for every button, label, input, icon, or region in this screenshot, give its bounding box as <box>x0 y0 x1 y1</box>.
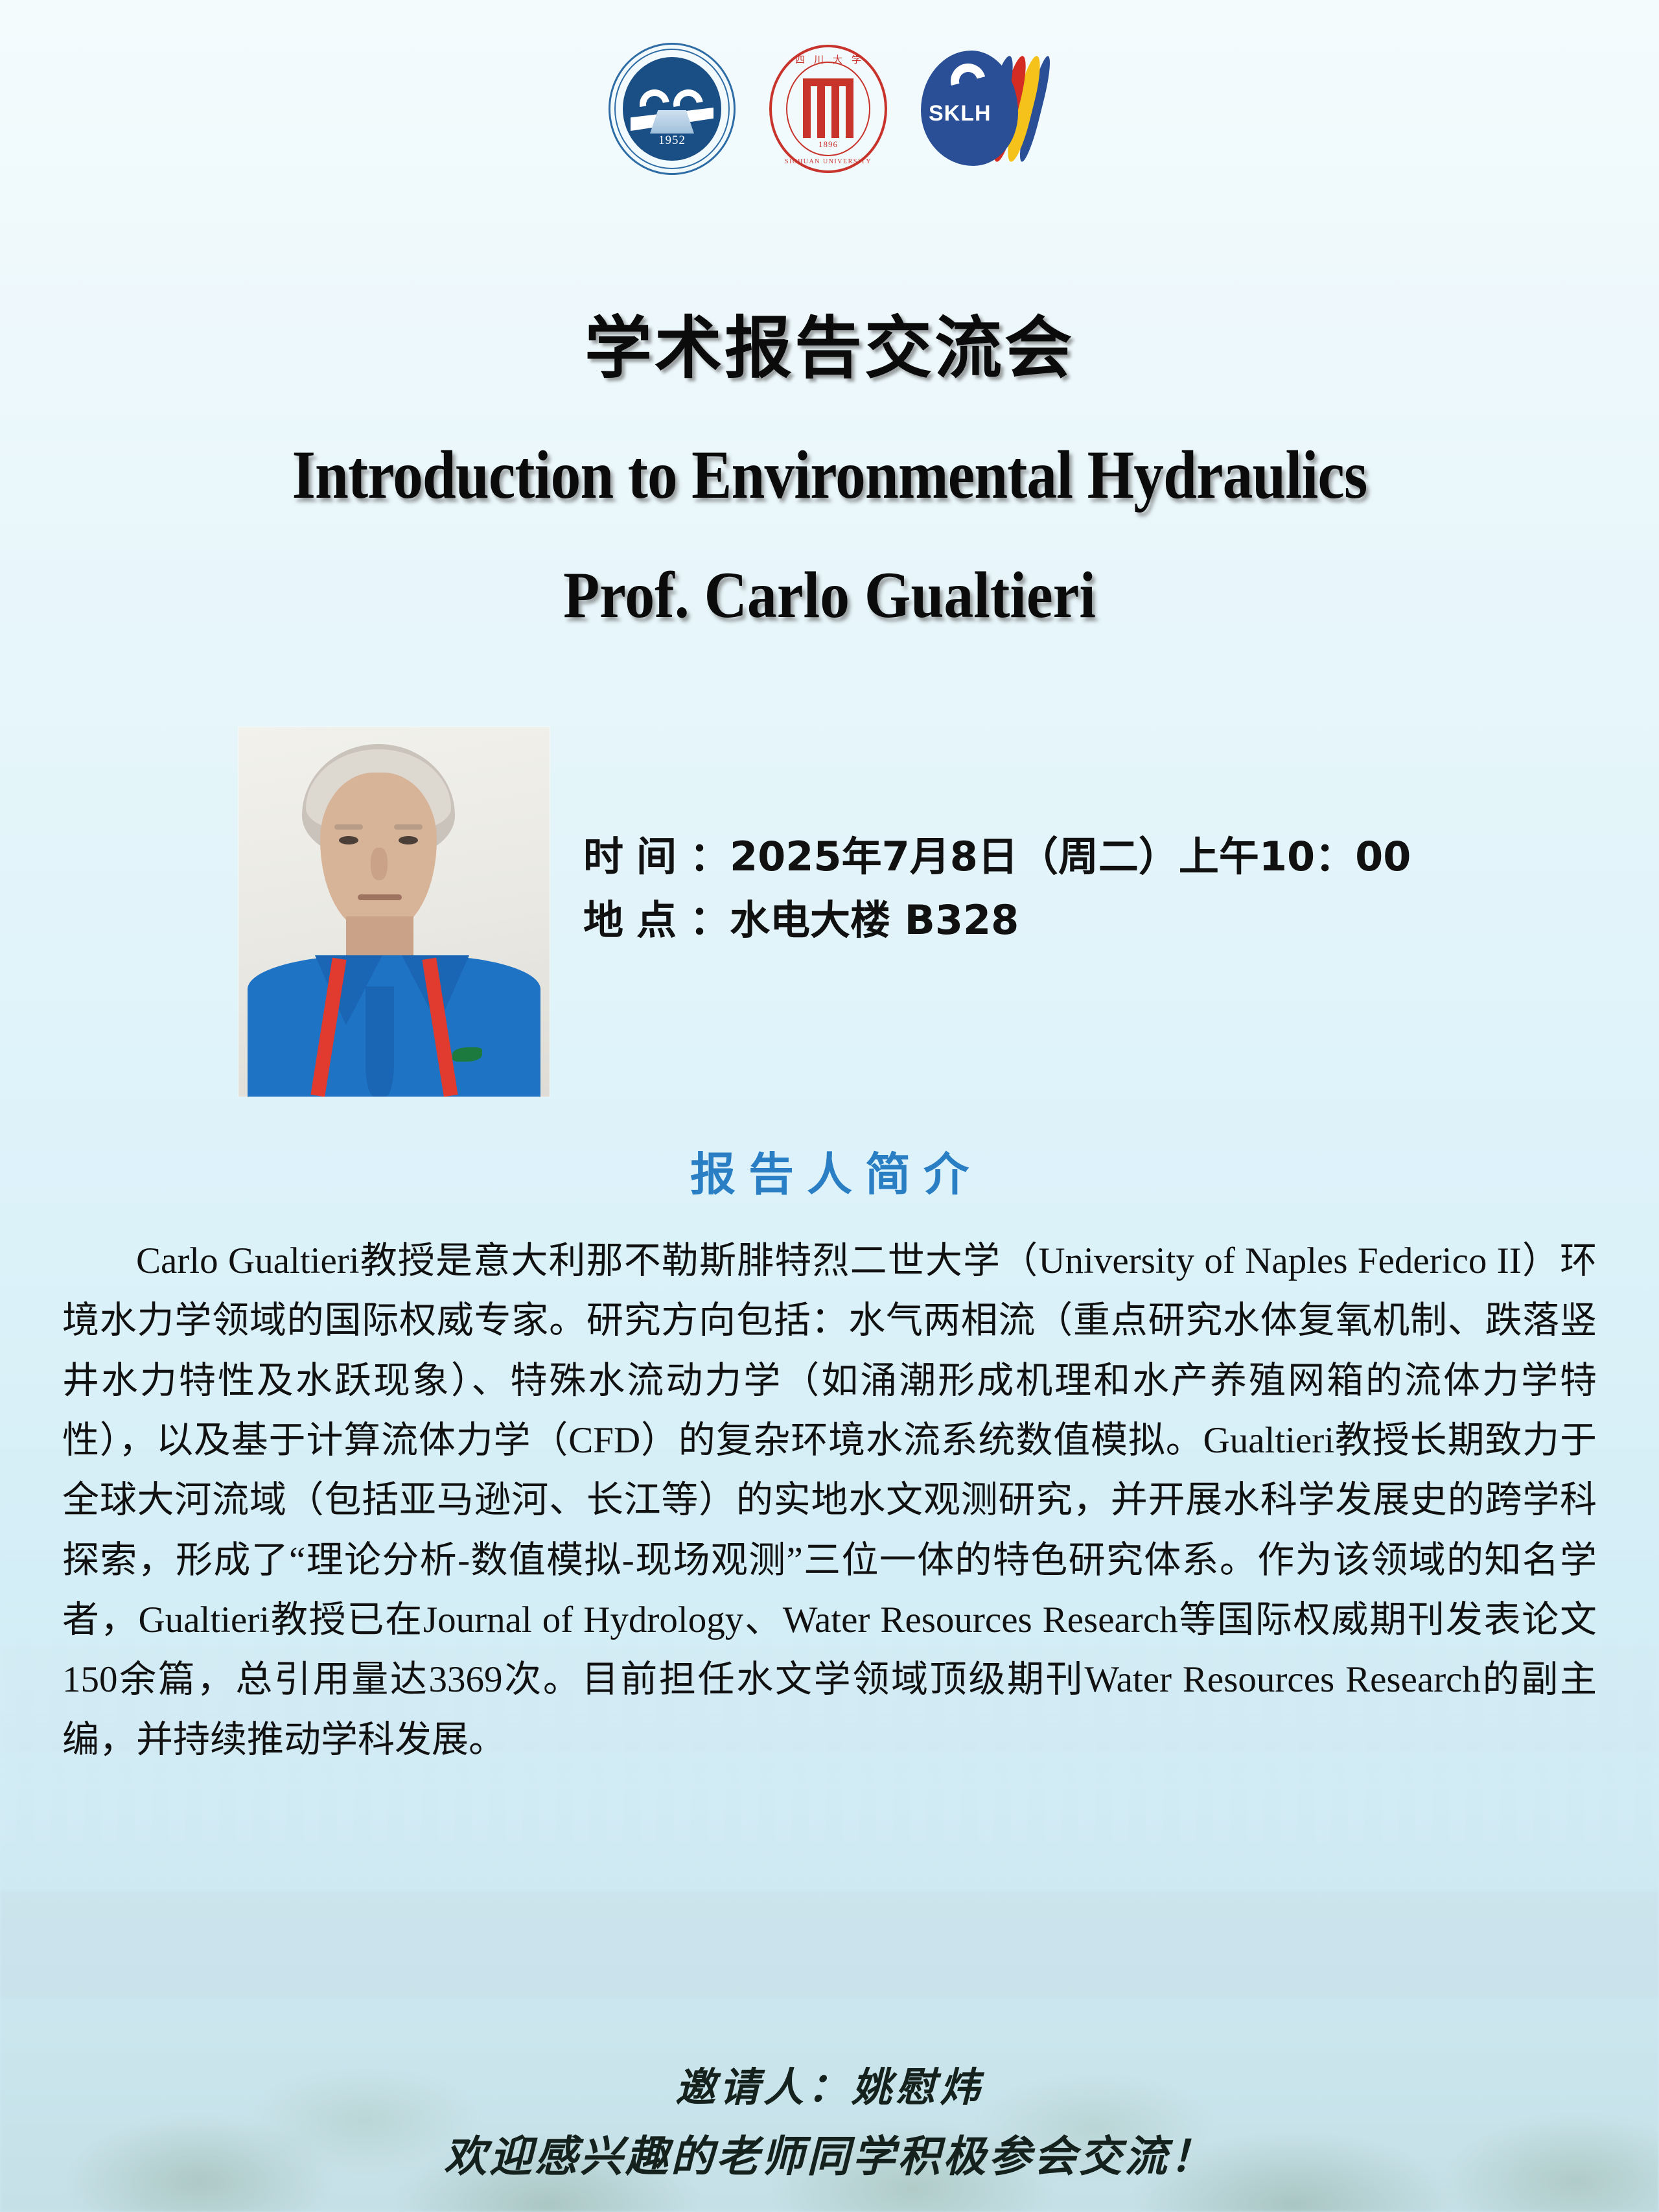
event-time-label: 时间 <box>583 833 690 880</box>
sichuan-university-logo: 四川大学 1896 SICHUAN UNIVERSITY <box>769 45 887 173</box>
poster-page: 1952 四川大学 1896 SICHUAN UNIVERSITY SKLH 学… <box>0 0 1659 2212</box>
logo-row: 1952 四川大学 1896 SICHUAN UNIVERSITY SKLH <box>0 43 1659 175</box>
event-time-row: 时间：2025年7月8日（周二）上午10：00 <box>583 827 1607 887</box>
welcome-line: 欢迎感兴趣的老师同学积极参会交流！ <box>0 2122 1659 2184</box>
page-title-english: Introduction to Environmental Hydraulics <box>100 436 1560 515</box>
portrait-shirt-logo-icon <box>452 1047 482 1062</box>
event-time-value: ：2025年7月8日（周二）上午10：00 <box>690 833 1411 880</box>
portrait-placket <box>365 986 394 1097</box>
portrait-mouth <box>358 894 402 900</box>
logo-year: 1952 <box>609 134 736 148</box>
logo-abbr-text: SKLH <box>929 101 1009 126</box>
speaker-name: Prof. Carlo Gualtieri <box>83 557 1576 633</box>
speaker-portrait <box>238 727 550 1097</box>
portrait-eye-right <box>399 836 418 844</box>
portrait-nose <box>371 848 388 880</box>
logo-en-arc-text: SICHUAN UNIVERSITY <box>769 158 887 165</box>
bio-paragraph: Carlo Gualtieri教授是意大利那不勒斯腓特烈二世大学（Univers… <box>62 1231 1597 1770</box>
portrait-eyebrow-left <box>334 824 363 830</box>
poster-footer: 邀请人：姚慰炜 欢迎感兴趣的老师同学积极参会交流！ <box>0 2055 1659 2184</box>
bio-section-heading: 报告人简介 <box>0 1138 1659 1204</box>
page-title-chinese: 学术报告交流会 <box>0 293 1659 391</box>
portrait-eye-left <box>339 836 358 844</box>
inviter-line: 邀请人：姚慰炜 <box>0 2055 1659 2113</box>
event-place-row: 地点：水电大楼 B328 <box>583 891 1607 950</box>
state-key-laboratory-of-hydraulics-logo: SKLH <box>921 45 1050 172</box>
event-details: 时间：2025年7月8日（周二）上午10：00 地点：水电大楼 B328 <box>583 827 1607 954</box>
logo-cn-arc-text: 四川大学 <box>769 52 887 66</box>
logo-year: 1896 <box>769 139 887 150</box>
logo-gate-emblem <box>803 78 853 138</box>
portrait-polo-shirt <box>248 955 540 1097</box>
portrait-eyebrow-right <box>394 824 423 830</box>
event-place-label: 地点 <box>583 896 690 944</box>
sichuan-university-college-of-water-resources-hydropower-logo: 1952 <box>609 43 736 175</box>
event-place-value: ：水电大楼 B328 <box>690 896 1019 944</box>
